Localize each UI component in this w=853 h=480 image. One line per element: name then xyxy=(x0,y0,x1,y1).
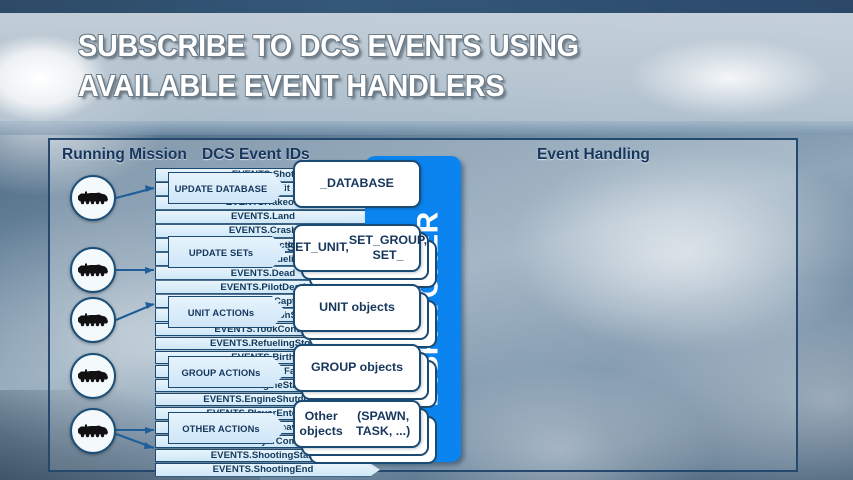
armored-vehicle-icon xyxy=(70,247,116,293)
column-header-event-handling: Event Handling xyxy=(537,146,650,164)
handling-target-1[interactable]: SET_UNIT,SET_GROUP, SET_ xyxy=(293,224,421,272)
handling-target-line: GROUP objects xyxy=(311,360,403,375)
page-title: SUBSCRIBE TO DCS EVENTS USING AVAILABLE … xyxy=(78,26,729,105)
handling-target-0[interactable]: _DATABASE xyxy=(293,160,421,208)
handling-target-stack-3: GROUP objects xyxy=(293,344,443,406)
armored-vehicle-icon xyxy=(70,175,116,221)
handling-target-stack-4: Other objects(SPAWN, TASK, ...) xyxy=(293,400,443,462)
handling-action-2[interactable]: UNIT ACTIONs xyxy=(168,296,286,328)
title-line-1: SUBSCRIBE TO DCS EVENTS USING xyxy=(78,26,729,66)
handling-action-1[interactable]: UPDATE SETs xyxy=(168,236,286,268)
handling-target-line: SET_UNIT, xyxy=(287,240,349,255)
title-line-2: AVAILABLE EVENT HANDLERS xyxy=(78,66,729,106)
handling-action-3[interactable]: GROUP ACTIONs xyxy=(168,356,286,388)
handling-target-stack-2: UNIT objects xyxy=(293,284,443,346)
handling-target-line: UNIT objects xyxy=(319,300,395,315)
armored-vehicle-icon xyxy=(70,353,116,399)
armored-vehicle-glyph xyxy=(76,188,110,208)
event-id-row[interactable]: EVENTS.ShootingEnd xyxy=(155,463,380,477)
handling-action-4[interactable]: OTHER ACTIONs xyxy=(168,412,286,444)
slide-canvas: SUBSCRIBE TO DCS EVENTS USING AVAILABLE … xyxy=(0,0,853,480)
sub-band xyxy=(0,121,853,135)
armored-vehicle-glyph xyxy=(76,310,110,330)
armored-vehicle-glyph xyxy=(76,260,110,280)
armored-vehicle-icon xyxy=(70,297,116,343)
diagram-panel: Running Mission DCS Event IDs Event Hand… xyxy=(48,138,798,472)
handling-action-0[interactable]: UPDATE DATABASE xyxy=(168,172,286,204)
handling-target-line: SET_GROUP, SET_ xyxy=(349,233,427,263)
handling-target-3[interactable]: GROUP objects xyxy=(293,344,421,392)
armored-vehicle-icon xyxy=(70,408,116,454)
handling-target-stack-1: SET_UNIT,SET_GROUP, SET_ xyxy=(293,224,443,286)
armored-vehicle-glyph xyxy=(76,421,110,441)
handling-target-line: _DATABASE xyxy=(320,176,394,191)
handling-target-2[interactable]: UNIT objects xyxy=(293,284,421,332)
handling-target-line: Other objects xyxy=(295,409,347,439)
top-strip xyxy=(0,0,853,13)
armored-vehicle-glyph xyxy=(76,366,110,386)
handling-target-4[interactable]: Other objects(SPAWN, TASK, ...) xyxy=(293,400,421,448)
handling-target-line: (SPAWN, TASK, ...) xyxy=(347,409,419,439)
handling-target-stack-0: _DATABASE xyxy=(293,160,443,222)
column-header-running-mission: Running Mission xyxy=(62,146,187,164)
